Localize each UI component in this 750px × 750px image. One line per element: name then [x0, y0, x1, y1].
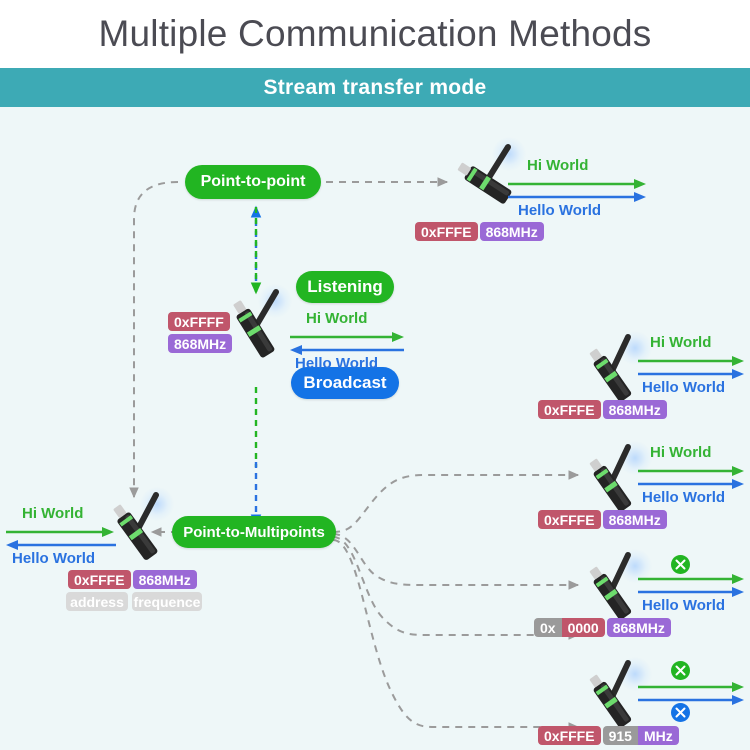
tag-address-split: 0x 0000	[534, 618, 605, 637]
arrow-hello-world-right	[638, 479, 746, 489]
tag-address: 0xFFFF	[168, 312, 230, 331]
blocked-hello-world-icon	[671, 703, 690, 722]
flow-label-hi-world: Hi World	[650, 334, 711, 351]
tag-address: 0xFFFE	[415, 222, 478, 241]
node-point-to-point-label: Point-to-point	[201, 173, 306, 191]
flow-label-hello-world: Hello World	[642, 379, 725, 396]
flow-label-hi-world: Hi World	[306, 310, 367, 327]
badge-listening[interactable]: Listening	[296, 271, 394, 303]
arrow-hi-world-right	[6, 527, 116, 537]
tag-address-value: 0000	[562, 618, 605, 637]
connector-lines	[0, 107, 750, 750]
header: Multiple Communication Methods	[0, 0, 750, 68]
tags-branch-1: 0xFFFE 868MHz	[538, 400, 667, 419]
node-point-to-point[interactable]: Point-to-point	[185, 165, 321, 199]
mode-band: Stream transfer mode	[0, 68, 750, 107]
blocked-hi-world-icon	[671, 555, 690, 574]
tag-address: 0xFFFE	[538, 510, 601, 529]
arrow-hi-world-right	[508, 179, 648, 189]
tag-frequency-unit: MHz	[638, 726, 679, 745]
tags-p2p-remote: 0xFFFE 868MHz	[415, 222, 544, 241]
tag-frequency: 868MHz	[168, 334, 232, 353]
tag-frequency-value: 915	[603, 726, 638, 745]
tags-multipoint-source: 0xFFFE 868MHz	[68, 570, 197, 589]
flow-label-hi-world: Hi World	[22, 505, 83, 522]
mode-band-label: Stream transfer mode	[263, 76, 486, 100]
arrow-hi-world-right	[290, 332, 406, 342]
node-point-to-multipoints[interactable]: Point-to-Multipoints	[172, 516, 336, 548]
tags-hub-center: 0xFFFF 868MHz	[168, 312, 232, 353]
page-title: Multiple Communication Methods	[98, 13, 651, 55]
flow-label-hi-world: Hi World	[650, 444, 711, 461]
blocked-hi-world-icon	[671, 661, 690, 680]
badge-listening-label: Listening	[307, 277, 383, 297]
tag-frequency: 868MHz	[480, 222, 544, 241]
flow-label-hello-world: Hello World	[518, 202, 601, 219]
flow-label-hello-world: Hello World	[295, 355, 378, 372]
tag-frequency: 868MHz	[603, 400, 667, 419]
arrow-hi-world-right	[638, 682, 746, 692]
legend-tags: address frequence	[66, 592, 202, 611]
arrow-hi-world-right	[638, 574, 746, 584]
arrow-hi-world-right	[638, 466, 746, 476]
tag-frequency: 868MHz	[607, 618, 671, 637]
flow-label-hello-world: Hello World	[12, 550, 95, 567]
legend-address: address	[66, 592, 128, 611]
arrow-hello-world-right	[508, 192, 648, 202]
flow-label-hi-world: Hi World	[527, 157, 588, 174]
arrow-hello-world-left	[290, 345, 406, 355]
flow-label-hello-world: Hello World	[642, 489, 725, 506]
arrow-hi-world-right	[638, 356, 746, 366]
arrow-hello-world-right	[638, 369, 746, 379]
tag-address: 0xFFFE	[538, 726, 601, 745]
node-point-to-multipoints-label: Point-to-Multipoints	[183, 524, 325, 541]
arrow-hello-world-left	[6, 540, 116, 550]
arrow-hello-world-right	[638, 695, 746, 705]
tag-frequency: 868MHz	[603, 510, 667, 529]
tag-address: 0xFFFE	[538, 400, 601, 419]
flow-label-hello-world: Hello World	[642, 597, 725, 614]
tag-address: 0xFFFE	[68, 570, 131, 589]
tags-branch-3: 0x 0000 868MHz	[534, 618, 671, 637]
badge-broadcast-label: Broadcast	[303, 373, 386, 393]
tags-branch-4: 0xFFFE 915 MHz	[538, 726, 679, 745]
tags-branch-2: 0xFFFE 868MHz	[538, 510, 667, 529]
arrow-hello-world-right	[638, 587, 746, 597]
tag-address-prefix: 0x	[534, 618, 562, 637]
legend-frequence: frequence	[132, 592, 202, 611]
diagram-canvas: Point-to-point Listening Broadcast Point…	[0, 107, 750, 750]
tag-frequency: 868MHz	[133, 570, 197, 589]
tag-frequency-split: 915 MHz	[603, 726, 679, 745]
diagram-page: Multiple Communication Methods Stream tr…	[0, 0, 750, 750]
